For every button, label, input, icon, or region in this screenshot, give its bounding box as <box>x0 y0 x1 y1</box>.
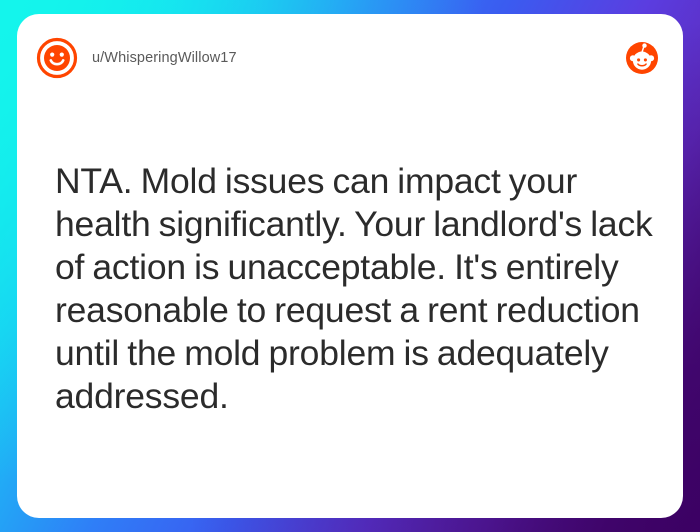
reddit-snoo-icon <box>625 41 659 75</box>
card-header: u/WhisperingWillow17 <box>17 14 683 102</box>
reddit-comment-card: u/WhisperingWillow17 NTA. Mold issues ca… <box>17 14 683 518</box>
smiley-face-icon <box>36 37 78 79</box>
screenshot-root: u/WhisperingWillow17 NTA. Mold issues ca… <box>0 0 700 532</box>
username-label: u/WhisperingWillow17 <box>92 50 237 66</box>
post-body-text: NTA. Mold issues can impact your health … <box>55 160 655 418</box>
